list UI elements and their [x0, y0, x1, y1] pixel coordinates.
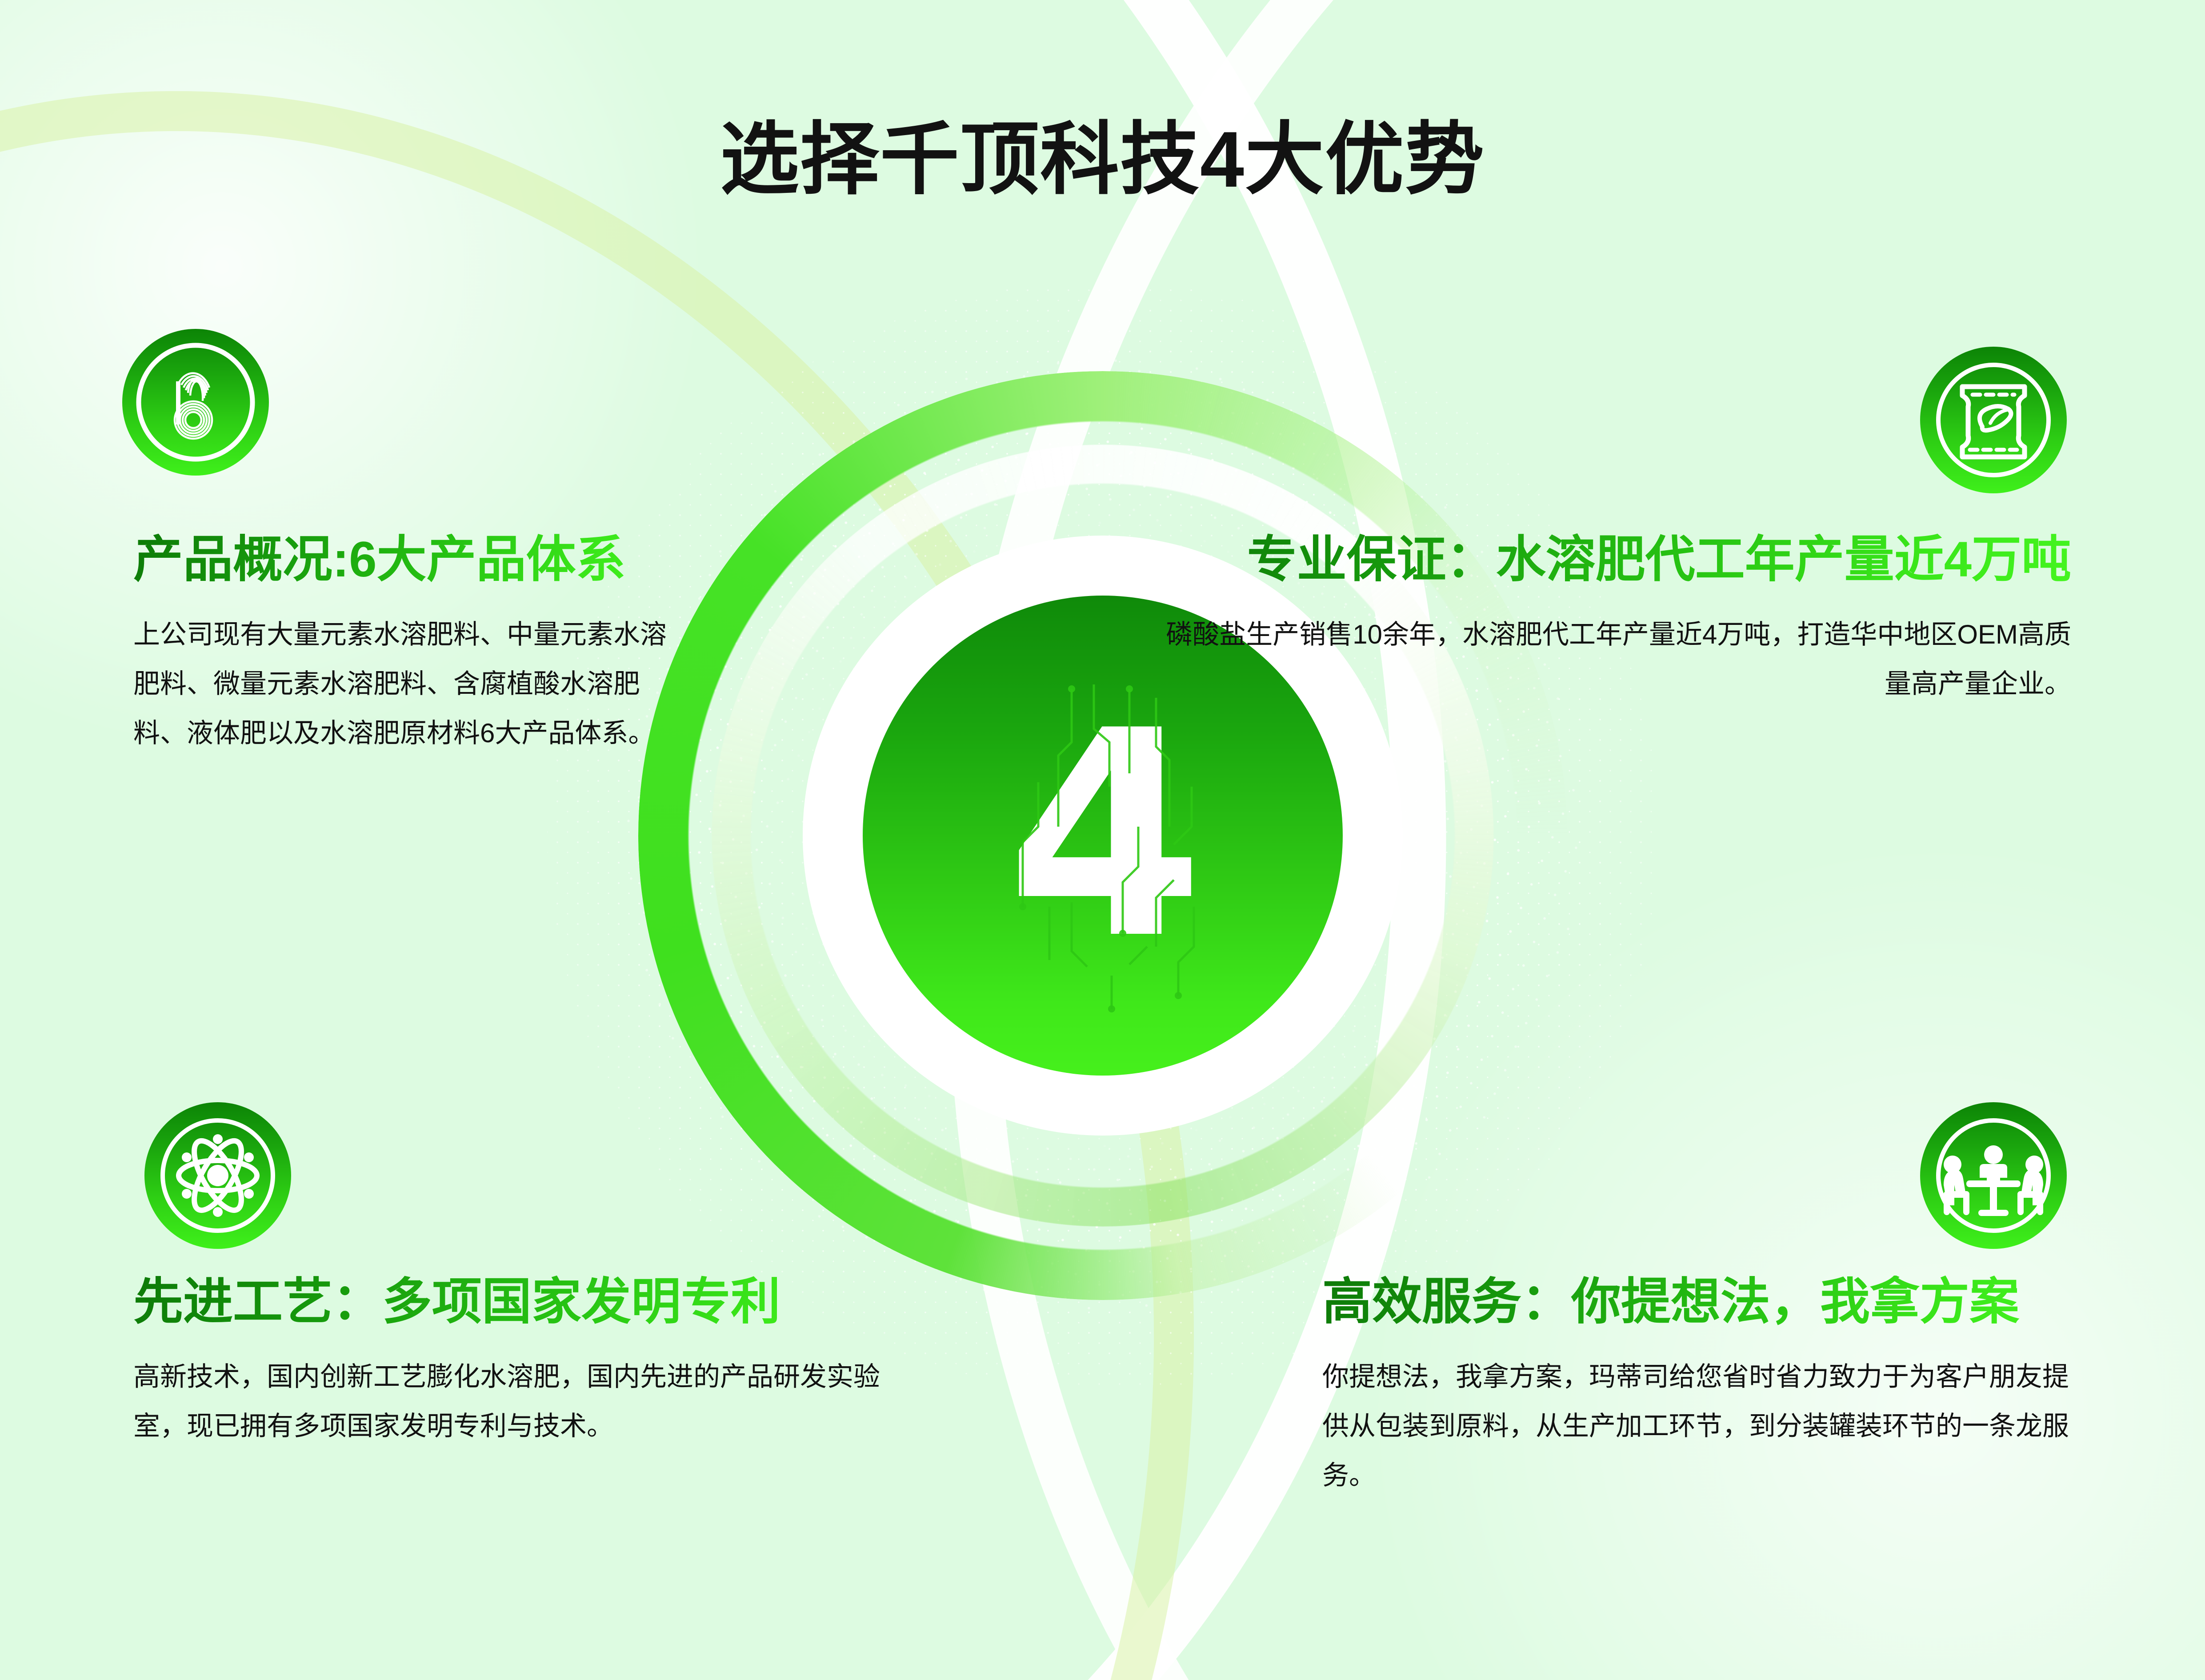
section-body: 上公司现有大量元素水溶肥料、中量元素水溶肥料、微量元素水溶肥料、含腐植酸水溶肥料…: [133, 610, 680, 758]
section-heading: 先进工艺：多项国家发明专利: [133, 1276, 889, 1328]
page-title: 选择千顶科技4大优势: [0, 96, 2205, 210]
atom-icon: [144, 1102, 291, 1249]
section-body: 高新技术，国内创新工艺膨化水溶肥，国内先进的产品研发实验室，现已拥有多项国家发明…: [133, 1352, 889, 1451]
fertilizer-bag-icon: [1920, 347, 2067, 493]
section-body: 磷酸盐生产销售10余年，水溶肥代工年产量近4万吨，打造华中地区OEM高质量高产量…: [1165, 610, 2071, 708]
section-heading: 高效服务：你提想法，我拿方案: [1322, 1276, 2073, 1328]
section-advanced-process: 先进工艺：多项国家发明专利 高新技术，国内创新工艺膨化水溶肥，国内先进的产品研发…: [133, 1276, 889, 1451]
section-efficient-service: 高效服务：你提想法，我拿方案 你提想法，我拿方案，玛蒂司给您省时省力致力于为客户…: [1322, 1276, 2073, 1500]
section-body: 你提想法，我拿方案，玛蒂司给您省时省力致力于为客户朋友提供从包装到原料，从生产加…: [1322, 1352, 2073, 1500]
section-professional-guarantee: 专业保证：水溶肥代工年产量近4万吨 磷酸盐生产销售10余年，水溶肥代工年产量近4…: [1165, 533, 2071, 708]
center-number: 4: [1006, 708, 1199, 964]
section-heading: 产品概况:6大产品体系: [133, 533, 680, 586]
number-six-rings-icon: [122, 329, 269, 476]
meeting-team-icon: [1920, 1102, 2067, 1249]
section-product-overview: 产品概况:6大产品体系 上公司现有大量元素水溶肥料、中量元素水溶肥料、微量元素水…: [133, 533, 680, 758]
section-heading: 专业保证：水溶肥代工年产量近4万吨: [1165, 533, 2071, 586]
